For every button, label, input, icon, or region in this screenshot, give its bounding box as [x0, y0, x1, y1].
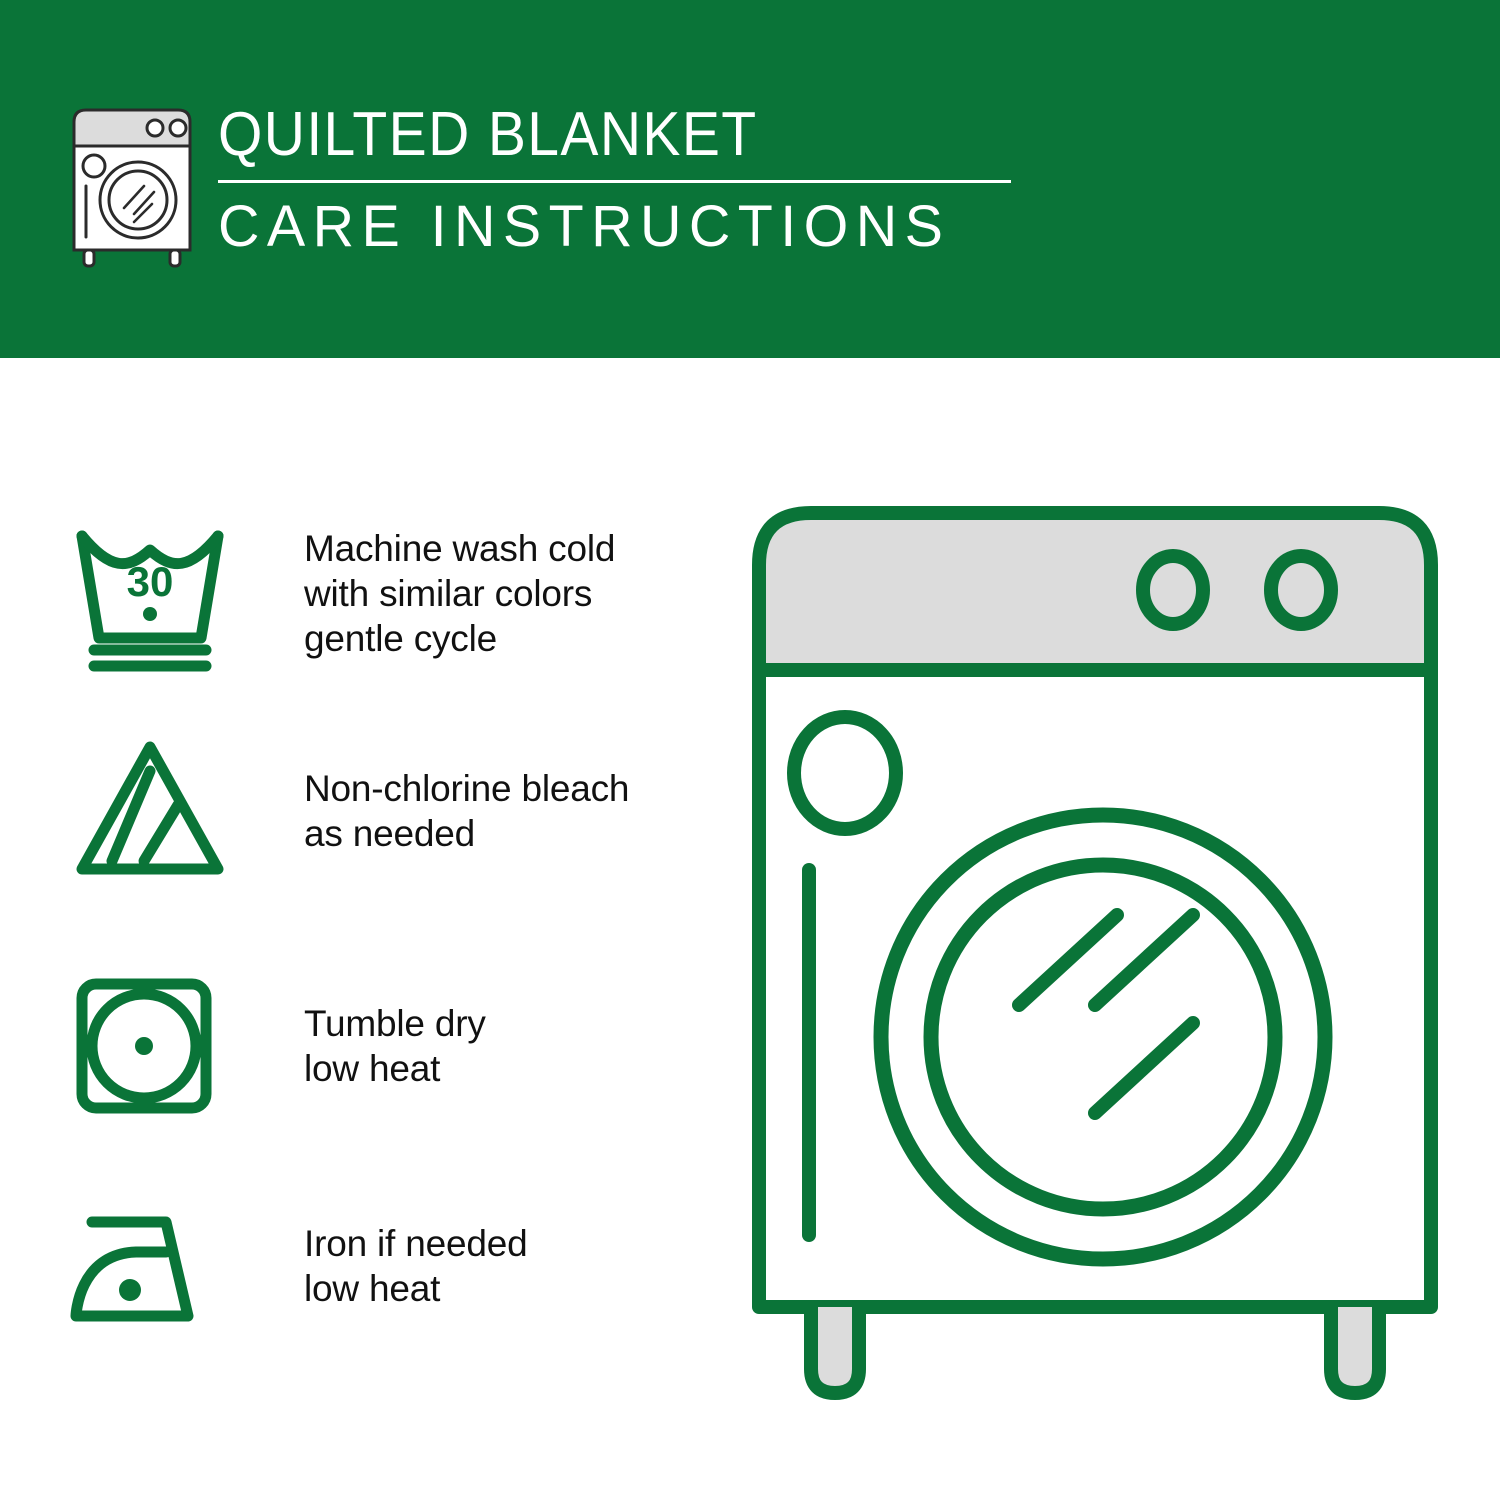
- header-title-block: QUILTED BLANKET CARE INSTRUCTIONS: [218, 96, 1018, 263]
- care-row-label: Iron if needed low heat: [304, 1221, 527, 1311]
- page-title: QUILTED BLANKET: [218, 96, 954, 174]
- care-label-line: gentle cycle: [304, 616, 615, 661]
- non-chlorine-bleach-triangle-icon: [62, 723, 242, 898]
- knob-dial-left: [1143, 556, 1203, 624]
- knob-dial-right: [1271, 556, 1331, 624]
- washing-machine-icon: [62, 104, 202, 274]
- machine-leg-right: [1331, 1307, 1379, 1393]
- iron-low-heat-icon: [62, 1178, 242, 1353]
- detergent-dispenser-circle: [794, 717, 896, 829]
- front-load-washing-machine-illustration: [745, 495, 1445, 1425]
- care-row-label: Tumble dry low heat: [304, 1001, 486, 1091]
- care-label-line: low heat: [304, 1046, 486, 1091]
- care-label-line: with similar colors: [304, 571, 615, 616]
- care-label-line: Non-chlorine bleach: [304, 766, 629, 811]
- care-row-bleach: Non-chlorine bleach as needed: [0, 723, 740, 898]
- care-label-line: Tumble dry: [304, 1001, 486, 1046]
- care-row-iron: Iron if needed low heat: [0, 1178, 740, 1353]
- care-instruction-list: 30 Machine wash cold with similar colors…: [0, 358, 740, 1500]
- care-row-tumble-dry: Tumble dry low heat: [0, 958, 740, 1133]
- care-label-line: Iron if needed: [304, 1221, 527, 1266]
- washer-drum: [931, 865, 1275, 1209]
- title-divider: [218, 180, 1011, 183]
- care-label-line: low heat: [304, 1266, 527, 1311]
- wash-tub-30-gentle-icon: 30: [62, 506, 242, 681]
- care-row-machine-wash: 30 Machine wash cold with similar colors…: [0, 506, 740, 681]
- header-banner: QUILTED BLANKET CARE INSTRUCTIONS: [0, 0, 1500, 358]
- wash-temperature-value: 30: [127, 558, 174, 605]
- care-label-line: as needed: [304, 811, 629, 856]
- care-row-label: Non-chlorine bleach as needed: [304, 766, 629, 856]
- page-subtitle: CARE INSTRUCTIONS: [218, 191, 1010, 263]
- care-label-line: Machine wash cold: [304, 526, 615, 571]
- machine-leg-left: [811, 1307, 859, 1393]
- care-row-label: Machine wash cold with similar colors ge…: [304, 526, 615, 661]
- tumble-dry-low-icon: [62, 958, 242, 1133]
